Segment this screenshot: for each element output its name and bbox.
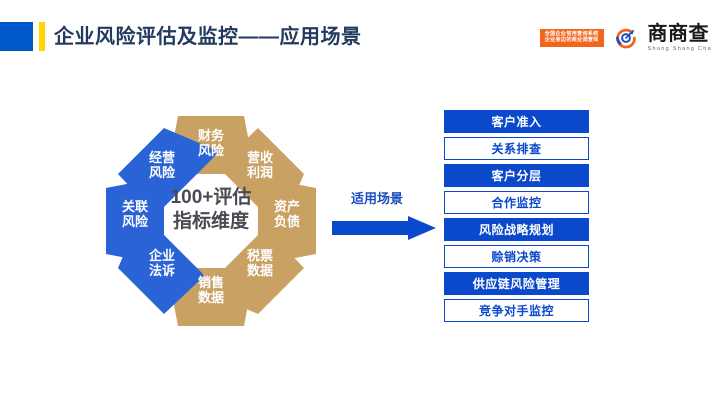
brand-name-en: Shang Shang Cha (648, 46, 712, 52)
connector-label: 适用场景 (351, 188, 403, 207)
scenario-item-7[interactable]: 竞争对手监控 (444, 299, 589, 322)
header-accent-block (0, 22, 33, 51)
scenario-item-2[interactable]: 客户分层 (444, 164, 589, 187)
brand-tagline-line2: 企业身边的商业调查师 (545, 38, 599, 44)
wheel-center-line2: 指标维度 (173, 211, 249, 232)
page-header: 企业风险评估及监控——应用场景 全国企业信用查询系统 企业身边的商业调查师 商商… (0, 0, 720, 70)
right-arrow-icon (332, 216, 436, 240)
header-accent-bar (39, 22, 45, 51)
scenario-item-3[interactable]: 合作监控 (444, 191, 589, 214)
page-title: 企业风险评估及监控——应用场景 (54, 22, 362, 52)
brand-swirl-icon (613, 25, 639, 51)
brand-logo: 全国企业信用查询系统 企业身边的商业调查师 商商查 Shang Shang Ch… (540, 24, 712, 52)
brand-name-cn: 商商查 (648, 24, 710, 44)
wheel-center-label: 100+评估 指标维度 (141, 186, 281, 234)
risk-dimension-wheel: 财务 风险 营收 利润 资产 负债 税票 数据 销售 数据 企业 法诉 关联 风… (78, 88, 344, 354)
brand-name-group: 商商查 Shang Shang Cha (648, 24, 712, 52)
brand-tagline-badge: 全国企业信用查询系统 企业身边的商业调查师 (540, 29, 604, 47)
scenario-item-6[interactable]: 供应链风险管理 (444, 272, 589, 295)
wheel-center-line1: 100+评估 (171, 187, 252, 208)
scenario-item-1[interactable]: 关系排查 (444, 137, 589, 160)
scenario-item-4[interactable]: 风险战略规划 (444, 218, 589, 241)
scenario-item-0[interactable]: 客户准入 (444, 110, 589, 133)
scenario-item-5[interactable]: 赊销决策 (444, 245, 589, 268)
scenario-list: 客户准入 关系排查 客户分层 合作监控 风险战略规划 赊销决策 供应链风险管理 … (444, 110, 589, 326)
